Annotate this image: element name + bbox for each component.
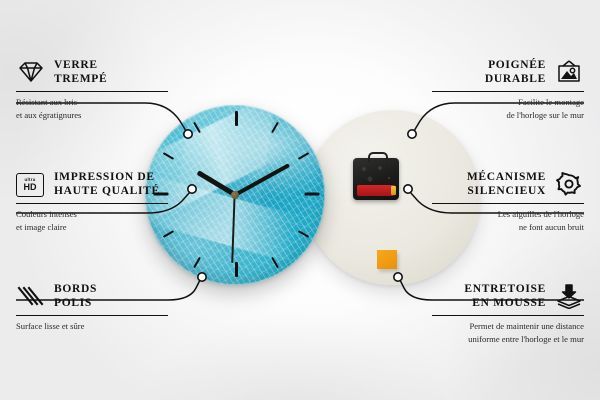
clock-tick	[193, 257, 201, 268]
clock-tick	[235, 262, 238, 277]
feature-title: VERRETREMPÉ	[54, 58, 107, 87]
title-rule	[432, 91, 584, 93]
title-rule	[16, 203, 168, 205]
feature-description: Permet de maintenir une distanceuniforme…	[414, 320, 584, 345]
clock-tick	[305, 193, 320, 196]
title-rule	[16, 315, 168, 317]
foam-spacer-icon	[554, 283, 584, 309]
foam-spacer	[377, 250, 397, 269]
clock-tick	[298, 152, 309, 160]
minute-hand	[234, 163, 290, 197]
polished-edges-icon	[16, 285, 46, 307]
feature-mecanisme-silencieux: MÉCANISMESILENCIEUX Les aiguilles de l'h…	[414, 170, 584, 233]
clock-tick	[163, 152, 174, 160]
feature-entretoise-en-mousse: ENTRETOISEEN MOUSSE Permet de maintenir …	[414, 282, 584, 345]
clock-mechanism	[353, 158, 399, 200]
feature-title: MÉCANISMESILENCIEUX	[467, 170, 546, 199]
clock-tick	[235, 111, 238, 126]
hand-cap	[231, 191, 239, 199]
feature-title: IMPRESSION DEHAUTE QUALITÉ	[54, 170, 160, 199]
title-rule	[432, 315, 584, 317]
diamond-icon	[16, 59, 46, 85]
feature-title: ENTRETOISEEN MOUSSE	[464, 282, 546, 311]
clock-tick	[193, 122, 201, 133]
feature-title: BORDSPOLIS	[54, 282, 97, 311]
product-infographic: VERRETREMPÉ Résistant aux briset aux égr…	[0, 0, 600, 400]
feature-description: Couleurs intenseset image claire	[16, 208, 186, 233]
ultra-hd-icon: ultra HD	[16, 173, 46, 195]
hd-label: HD	[24, 183, 37, 192]
feature-poignee-durable: POIGNÉEDURABLE Facilite le montagede l'h…	[414, 58, 584, 121]
feature-impression-haute-qualite: ultra HD IMPRESSION DEHAUTE QUALITÉ Coul…	[16, 170, 186, 233]
clock-tick	[271, 257, 279, 268]
feature-description: Surface lisse et sûre	[16, 320, 186, 332]
feature-description: Résistant aux briset aux égratignures	[16, 96, 186, 121]
gear-icon	[554, 171, 584, 197]
feature-verre-trempe: VERRETREMPÉ Résistant aux briset aux égr…	[16, 58, 186, 121]
battery	[357, 185, 395, 196]
clock-tick	[271, 122, 279, 133]
second-hand	[232, 195, 236, 263]
clock-tick	[298, 230, 309, 238]
title-rule	[16, 91, 168, 93]
mechanism-detail	[358, 163, 394, 185]
feature-title: POIGNÉEDURABLE	[485, 58, 546, 87]
feature-description: Facilite le montagede l'horloge sur le m…	[414, 96, 584, 121]
title-rule	[432, 203, 584, 205]
feature-bords-polis: BORDSPOLIS Surface lisse et sûre	[16, 282, 186, 333]
feature-description: Les aiguilles de l'horlogene font aucun …	[414, 208, 584, 233]
picture-hook-icon	[554, 59, 584, 85]
